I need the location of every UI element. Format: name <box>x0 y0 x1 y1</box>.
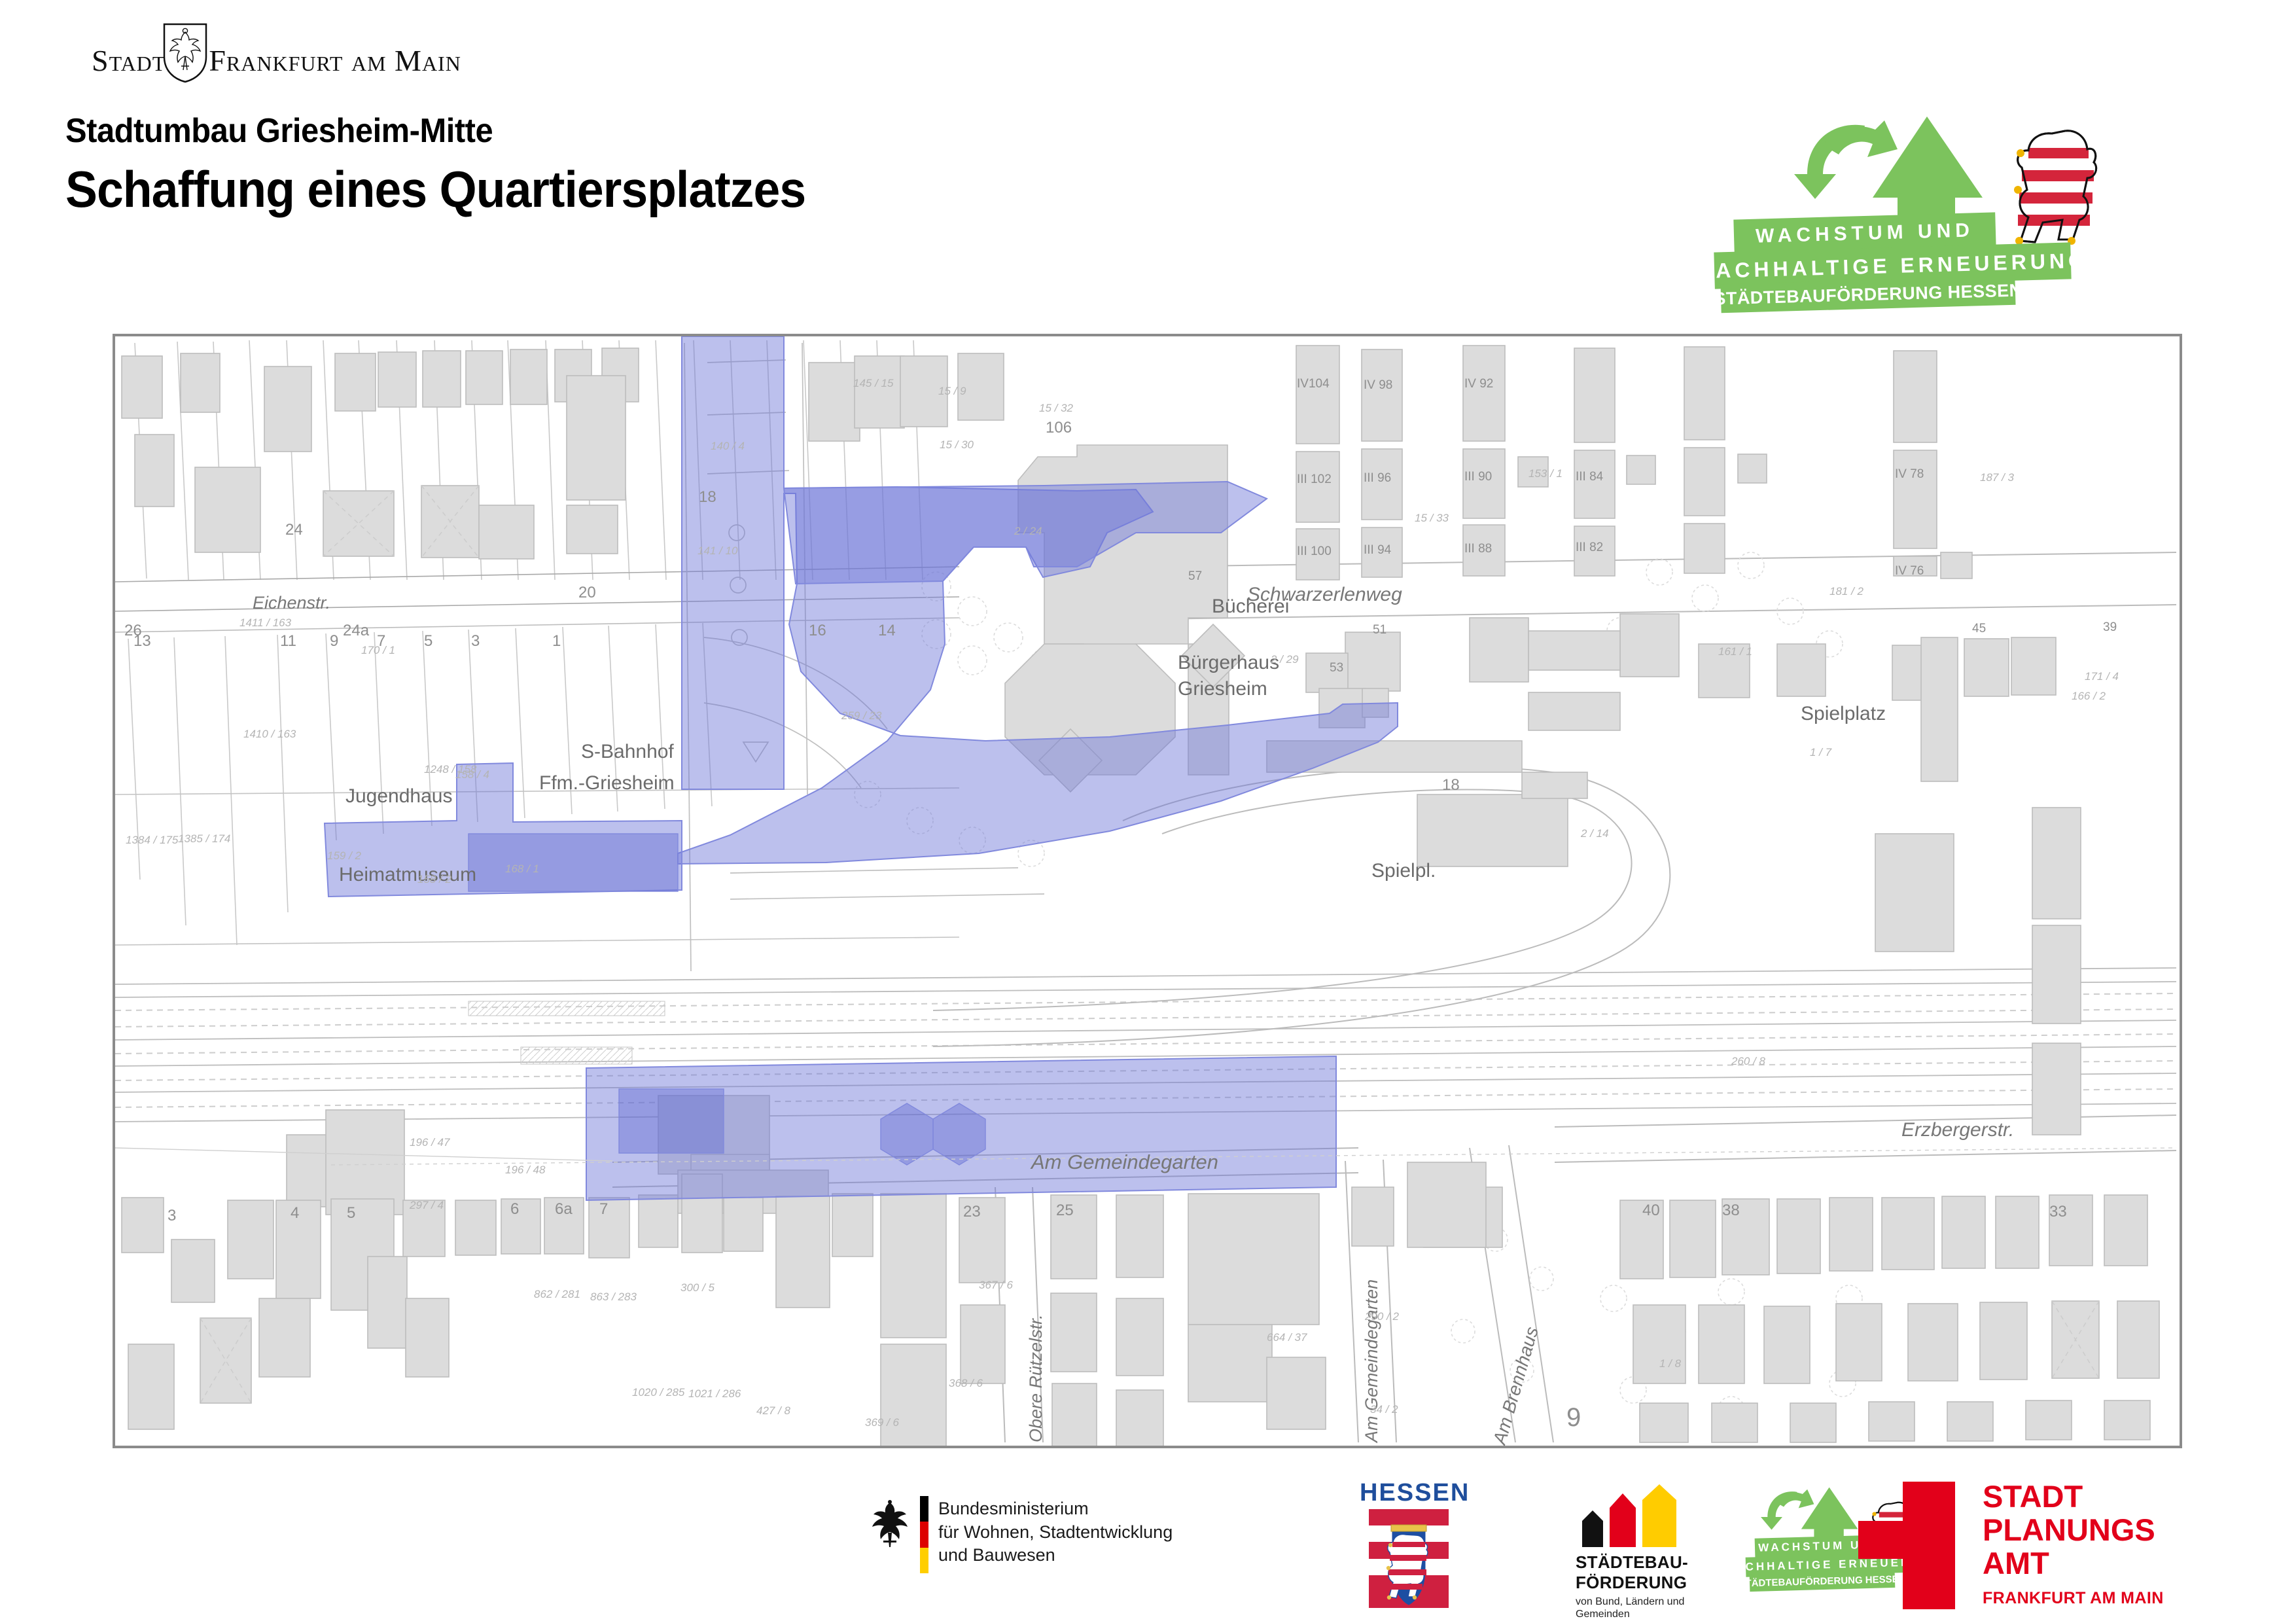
hessen-lion-icon <box>2002 124 2100 249</box>
hessen-wordmark: HESSEN <box>1360 1480 1458 1505</box>
spa-line-2: PLANUNGS <box>1983 1514 2164 1547</box>
stadtplanungsamt-mark-icon <box>1852 1482 1969 1609</box>
staedtebau-text: STÄDTEBAU- FÖRDERUNG <box>1576 1552 1688 1592</box>
bmwsb-line-3: und Bauwesen <box>938 1544 1173 1567</box>
stadtplanungsamt-logo: STADT PLANUNGS AMT FRANKFURT AM MAIN <box>1852 1482 2270 1616</box>
spa-line-1: STADT <box>1983 1480 2164 1514</box>
map-drawing <box>115 336 2180 1446</box>
staedtebau-line-1: STÄDTEBAU- <box>1576 1552 1688 1573</box>
staedtebau-sub-2: Gemeinden <box>1576 1608 1684 1620</box>
bmwsb-text: Bundesministerium für Wohnen, Stadtentwi… <box>938 1497 1173 1567</box>
city-logo-word-stadt: Stadt <box>92 44 166 77</box>
city-logo: StadtFrankfurt am Main <box>92 34 510 86</box>
bmwsb-line-1: Bundesministerium <box>938 1497 1173 1521</box>
cadastral-map[interactable]: Eichenstr. Schwarzerlenweg Erzbergerstr.… <box>113 334 2182 1448</box>
three-houses-icon <box>1578 1484 1683 1547</box>
spa-subline: FRANKFURT AM MAIN <box>1983 1589 2164 1608</box>
bmwsb-logo: Bundesministerium für Wohnen, Stadtentwi… <box>870 1487 1210 1578</box>
spa-line-3: AMT <box>1983 1547 2164 1580</box>
project-subtitle: Stadtumbau Griesheim-Mitte <box>65 111 805 151</box>
footer-logo-bar: Bundesministerium für Wohnen, Stadtentwi… <box>0 1472 2296 1623</box>
bmwsb-line-2: für Wohnen, Stadtentwicklung <box>938 1521 1173 1544</box>
staedtebau-subtext: von Bund, Ländern und Gemeinden <box>1576 1596 1684 1620</box>
page-title: Schaffung eines Quartiersplatzes <box>65 160 805 219</box>
stadtplanungsamt-text: STADT PLANUNGS AMT FRANKFURT AM MAIN <box>1983 1480 2164 1608</box>
title-block: Stadtumbau Griesheim-Mitte Schaffung ein… <box>65 111 853 219</box>
wachstum-erneuerung-badge: WACHSTUM UND NACHHALTIGE ERNEUERUNG STÄD… <box>1714 111 2185 281</box>
city-logo-word-frankfurt: Frankfurt am Main <box>209 44 461 77</box>
germany-flag-bar <box>920 1496 928 1573</box>
city-logo-text: StadtFrankfurt am Main <box>92 43 510 78</box>
staedtebau-line-2: FÖRDERUNG <box>1576 1573 1688 1593</box>
staedtebaufoerderung-logo: STÄDTEBAU- FÖRDERUNG von Bund, Ländern u… <box>1564 1484 1714 1615</box>
staedtebau-sub-1: von Bund, Ländern und <box>1576 1596 1684 1608</box>
hessen-flag-lion-icon <box>1369 1509 1449 1609</box>
hessen-logo: HESSEN <box>1360 1480 1458 1614</box>
bundesadler-icon <box>870 1500 910 1551</box>
